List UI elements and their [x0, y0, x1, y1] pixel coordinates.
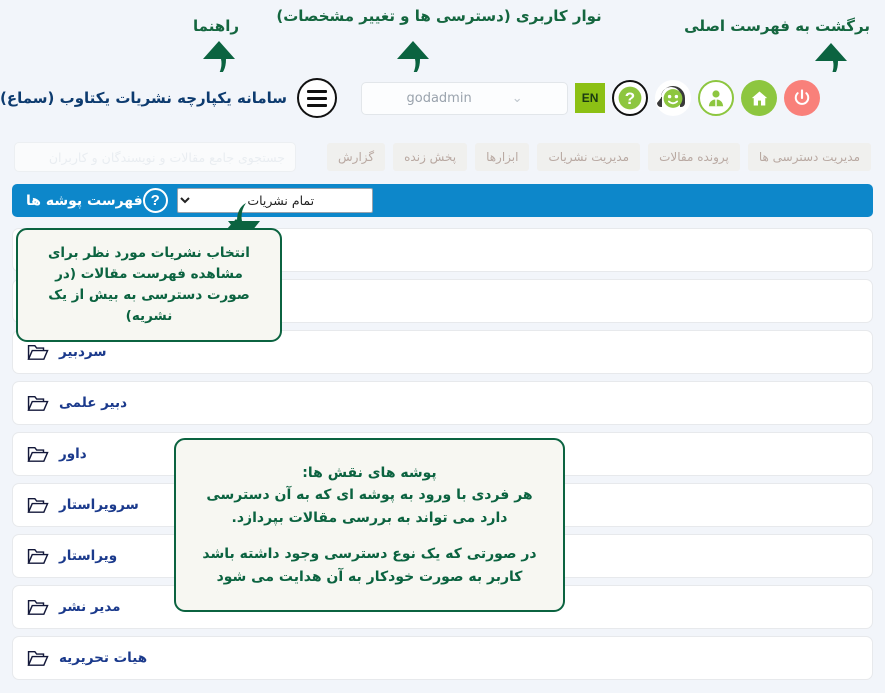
- folder-name: هیات تحریریه: [59, 650, 147, 666]
- hamburger-icon[interactable]: [297, 78, 337, 118]
- tooltip-role-folders: پوشه های نقش ها: هر فردی با ورود به پوشه…: [174, 438, 565, 612]
- help-icon[interactable]: ?: [612, 80, 648, 116]
- app-header: سامانه یکپارچه نشریات یکتاوب (سماع): [0, 72, 885, 124]
- folder-row-editorial-board[interactable]: هیات تحریریه: [12, 636, 873, 680]
- power-icon[interactable]: [784, 80, 820, 116]
- page-title: سامانه یکپارچه نشریات یکتاوب (سماع): [0, 89, 287, 107]
- search-input[interactable]: [25, 150, 285, 165]
- tooltip-publication-select: انتخاب نشریات مورد نظر برای مشاهده فهرست…: [16, 228, 282, 342]
- folder-icon: [27, 547, 49, 565]
- tab-article-files[interactable]: پرونده مقالات: [648, 143, 740, 171]
- folder-name: ویراستار: [59, 548, 117, 564]
- tab-journal-management[interactable]: مدیریت نشریات: [537, 143, 640, 171]
- tab-tools[interactable]: ابزارها: [475, 143, 529, 171]
- folder-name: داور: [59, 446, 87, 462]
- folder-name: سرویراستار: [59, 497, 139, 513]
- nav-tabs: مدیریت دسترسی ها پرونده مقالات مدیریت نش…: [0, 140, 885, 174]
- tooltip-text: انتخاب نشریات مورد نظر برای مشاهده فهرست…: [48, 245, 250, 324]
- user-icon[interactable]: [698, 80, 734, 116]
- header-tools: ? EN ⌄ godadmin: [361, 80, 820, 116]
- tooltip-notch: [226, 219, 246, 230]
- tooltip-roles-body-1: هر فردی با ورود به پوشه ای که به آن دستر…: [194, 484, 545, 529]
- folder-icon: [27, 496, 49, 514]
- chevron-down-icon: ⌄: [512, 92, 523, 105]
- tooltip-roles-title: پوشه های نقش ها:: [194, 462, 545, 484]
- folder-row-scientific-secretary[interactable]: دبیر علمی: [12, 381, 873, 425]
- language-toggle-button[interactable]: EN: [575, 83, 605, 113]
- svg-text:?: ?: [625, 89, 635, 108]
- tab-access-management[interactable]: مدیریت دسترسی ها: [748, 143, 871, 171]
- folder-icon: [27, 649, 49, 667]
- folder-name: مدیر نشر: [59, 599, 121, 615]
- user-menu-dropdown[interactable]: ⌄ godadmin: [361, 82, 568, 115]
- brand-area: سامانه یکپارچه نشریات یکتاوب (سماع): [0, 78, 337, 118]
- support-icon[interactable]: [655, 80, 691, 116]
- username-label: godadmin: [407, 91, 472, 106]
- folder-icon: [27, 394, 49, 412]
- annotation-label-help: راهنما: [193, 17, 239, 35]
- folder-icon: [27, 445, 49, 463]
- tab-report[interactable]: گزارش: [327, 143, 385, 171]
- home-icon[interactable]: [741, 80, 777, 116]
- publication-select[interactable]: تمام نشریات: [177, 188, 373, 213]
- annotation-label-userbar: نوار کاربری (دسترسی ها و تغییر مشخصات): [269, 7, 609, 25]
- tooltip-roles-body-2: در صورتی که یک نوع دسترسی وجود داشته باش…: [194, 543, 545, 588]
- folder-icon: [27, 343, 49, 361]
- folder-name: سردبیر: [59, 344, 107, 360]
- tab-live-broadcast[interactable]: پخش زنده: [393, 143, 467, 171]
- search-box[interactable]: [14, 142, 296, 172]
- folder-name: دبیر علمی: [59, 395, 127, 411]
- annotation-label-back: برگشت به فهرست اصلی: [684, 17, 870, 35]
- panel-header: فهرست پوشه ها ? تمام نشریات: [12, 184, 873, 217]
- panel-help-icon[interactable]: ?: [143, 188, 168, 213]
- panel-title: فهرست پوشه ها: [26, 193, 143, 209]
- app-root: راهنما نوار کاربری (دسترسی ها و تغییر مش…: [0, 0, 885, 693]
- folder-icon: [27, 598, 49, 616]
